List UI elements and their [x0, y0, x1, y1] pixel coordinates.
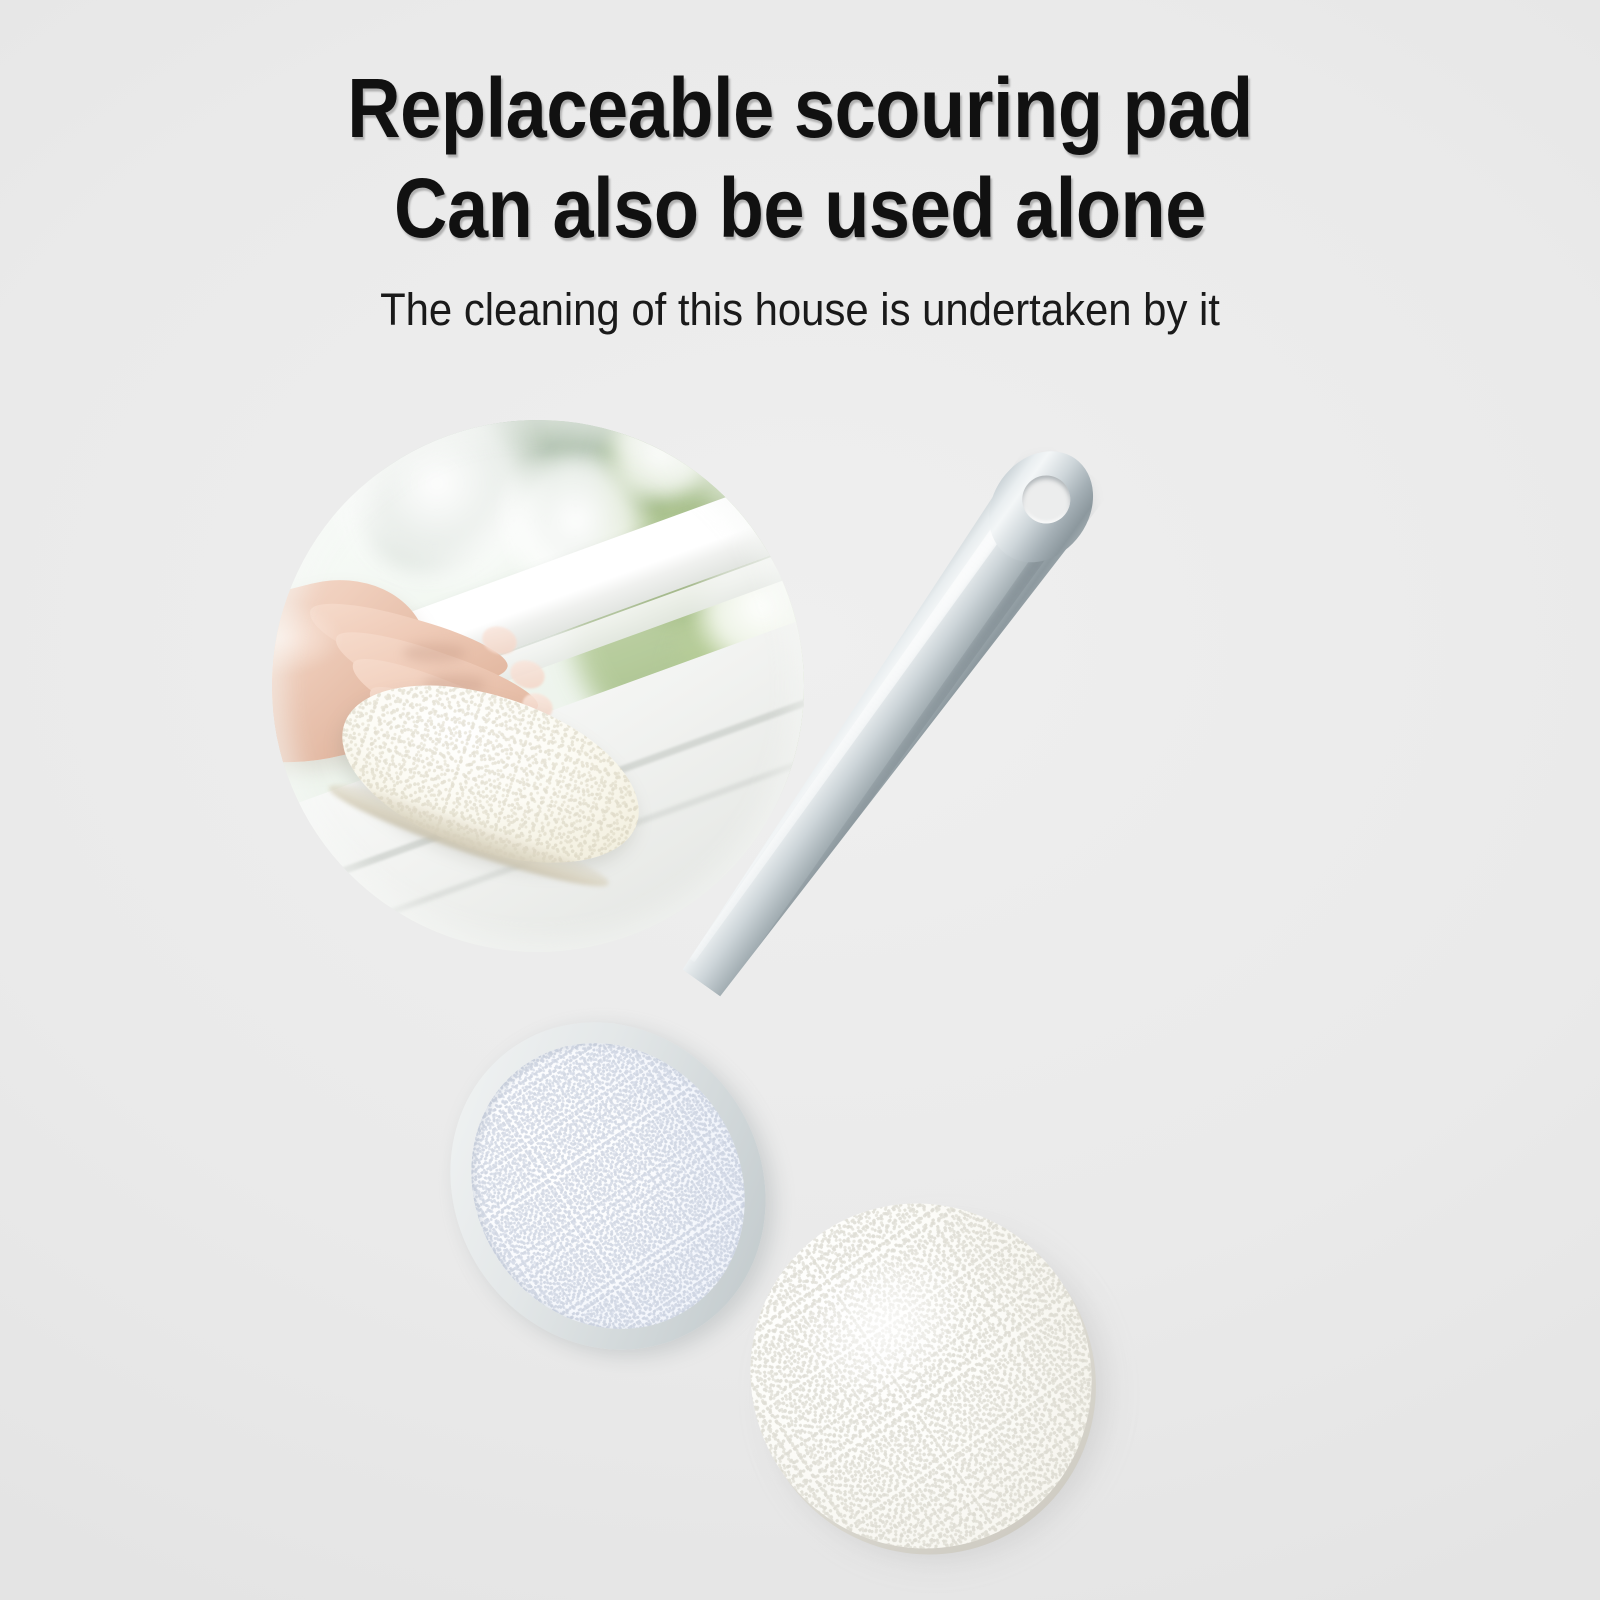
- headline-line-2: Can also be used alone: [96, 158, 1504, 258]
- inset-photo-scene: [272, 420, 804, 952]
- knuckle-shadow: [403, 643, 466, 663]
- page-title: Replaceable scouring pad Can also be use…: [96, 58, 1504, 258]
- headline-line-1: Replaceable scouring pad: [96, 58, 1504, 158]
- replacement-scouring-pad: [684, 1137, 1159, 1600]
- hand-highlight: [272, 600, 344, 676]
- subtitle: The cleaning of this house is undertaken…: [56, 282, 1544, 338]
- brush-handle-tip: [968, 431, 1115, 583]
- pad-top-surface: [684, 1137, 1159, 1600]
- inset-photo-circle: [272, 420, 804, 952]
- hanging-hole-icon: [1013, 466, 1080, 533]
- product-marketing-image: Replaceable scouring pad Can also be use…: [0, 0, 1600, 1600]
